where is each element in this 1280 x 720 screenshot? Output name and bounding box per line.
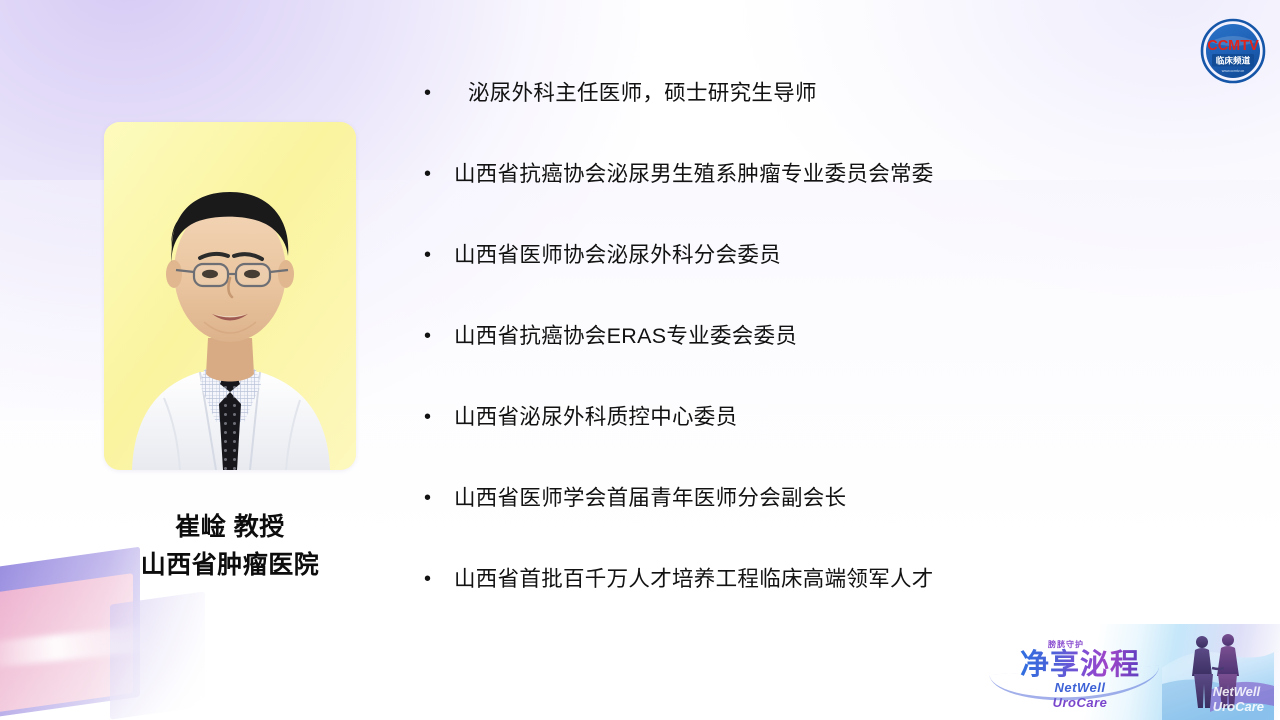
ccmtv-url: www.ccmtv.cn bbox=[1222, 69, 1245, 73]
ccmtv-subtitle: 临床频道 bbox=[1216, 54, 1251, 66]
list-item: • 泌尿外科主任医师，硕士研究生导师 bbox=[424, 76, 1124, 157]
list-item-text: 山西省医师学会首届青年医师分会副会长 bbox=[454, 481, 1124, 515]
speaker-name: 崔崯 教授 bbox=[60, 508, 400, 546]
list-item: • 山西省抗癌协会泌尿男生殖系肿瘤专业委员会常委 bbox=[424, 157, 1124, 238]
list-item: • 山西省医师协会泌尿外科分会委员 bbox=[424, 238, 1124, 319]
brand-watermark-line2: UroCare bbox=[1213, 699, 1264, 714]
ccmtv-wordmark: CCMTV bbox=[1207, 38, 1259, 54]
bullet-marker: • bbox=[424, 400, 454, 434]
credentials-list: • 泌尿外科主任医师，硕士研究生导师 • 山西省抗癌协会泌尿男生殖系肿瘤专业委员… bbox=[424, 76, 1124, 643]
list-item: • 山西省医师学会首届青年医师分会副会长 bbox=[424, 481, 1124, 562]
list-item-text: 山西省泌尿外科质控中心委员 bbox=[454, 400, 1124, 434]
bullet-marker: • bbox=[424, 481, 454, 515]
list-item: • 山西省抗癌协会ERAS专业委会委员 bbox=[424, 319, 1124, 400]
list-item: • 山西省泌尿外科质控中心委员 bbox=[424, 400, 1124, 481]
bullet-marker: • bbox=[424, 238, 454, 272]
list-item-text: 山西省抗癌协会ERAS专业委会委员 bbox=[454, 319, 1124, 353]
brand-watermark-line1: NetWell bbox=[1213, 684, 1264, 699]
list-item-text: 泌尿外科主任医师，硕士研究生导师 bbox=[454, 76, 1124, 110]
bullet-marker: • bbox=[424, 319, 454, 353]
bullet-marker: • bbox=[424, 562, 454, 596]
speaker-caption: 崔崯 教授 山西省肿瘤医院 bbox=[60, 508, 400, 584]
list-item-text: 山西省首批百千万人才培养工程临床高端领军人才 bbox=[454, 562, 1124, 596]
brand-watermark: NetWell UroCare bbox=[1213, 684, 1264, 714]
slide-canvas: 崔崯 教授 山西省肿瘤医院 • 泌尿外科主任医师，硕士研究生导师 • 山西省抗癌… bbox=[0, 0, 1280, 720]
bullet-marker: • bbox=[424, 157, 454, 191]
netwell-urocare-branding: NetWell UroCare 膀胱守护 净享泌程 NetWell UroCar… bbox=[988, 624, 1280, 720]
speaker-affiliation: 山西省肿瘤医院 bbox=[60, 546, 400, 584]
ccmtv-logo-svg: CCMTV 临床频道 www.ccmtv.cn bbox=[1200, 18, 1266, 84]
deco-light-streak bbox=[0, 625, 151, 669]
deco-square-lavender bbox=[110, 591, 205, 719]
list-item-text: 山西省医师协会泌尿外科分会委员 bbox=[454, 238, 1124, 272]
list-item-text: 山西省抗癌协会泌尿男生殖系肿瘤专业委员会常委 bbox=[454, 157, 1124, 191]
deco-square-pink bbox=[0, 573, 133, 715]
bullet-marker: • bbox=[424, 76, 454, 110]
portrait-illustration bbox=[104, 122, 356, 470]
ccmtv-logo: CCMTV 临床频道 www.ccmtv.cn bbox=[1200, 18, 1266, 84]
speaker-portrait bbox=[104, 122, 356, 470]
